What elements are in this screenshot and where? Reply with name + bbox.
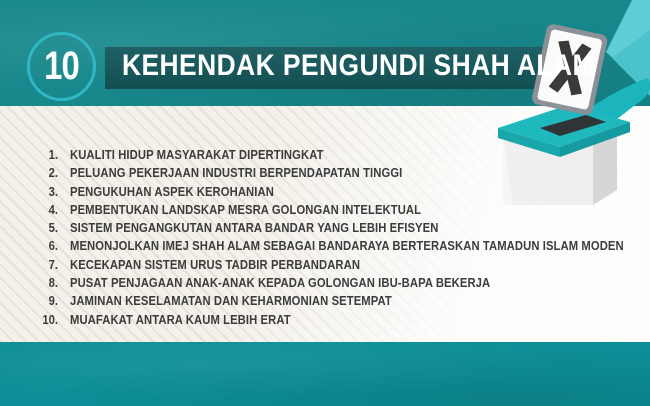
list-item: 7. KECEKAPAN SISTEM URUS TADBIR PERBANDA… — [30, 258, 650, 276]
list-item-number: 5. — [33, 221, 58, 235]
list-item-number: 6. — [33, 239, 58, 253]
list-item: 9. JAMINAN KESELAMATAN DAN KEHARMONIAN S… — [30, 294, 650, 312]
list-item-label: KECEKAPAN SISTEM URUS TADBIR PERBANDARAN — [70, 258, 360, 272]
list-item-label: PENGUKUHAN ASPEK KEROHANIAN — [70, 185, 274, 199]
list-item-label: KUALITI HIDUP MASYARAKAT DIPERTINGKAT — [70, 148, 324, 162]
number-badge-label: 10 — [36, 35, 88, 98]
list-item-label: PELUANG PEKERJAAN INDUSTRI BERPENDAPATAN… — [70, 166, 402, 180]
list-item-label: MUAFAKAT ANTARA KAUM LEBIH ERAT — [70, 313, 291, 327]
ballot-box-illustration — [480, 0, 650, 215]
list-item-label: MENONJOLKAN IMEJ SHAH ALAM SEBAGAI BANDA… — [70, 239, 624, 253]
list-item: 6. MENONJOLKAN IMEJ SHAH ALAM SEBAGAI BA… — [30, 239, 650, 257]
list-item-number: 10. — [33, 313, 58, 327]
list-item-number: 1. — [33, 148, 58, 162]
list-item-label: SISTEM PENGANGKUTAN ANTARA BANDAR YANG L… — [70, 221, 438, 235]
infographic-poster: 10 KEHENDAK PENGUNDI SHAH ALAM — [0, 0, 650, 406]
page-title: KEHENDAK PENGUNDI SHAH ALAM — [122, 44, 595, 88]
list-item-label: PEMBENTUKAN LANDSKAP MESRA GOLONGAN INTE… — [70, 203, 421, 217]
list-item: 8. PUSAT PENJAGAAN ANAK-ANAK KEPADA GOLO… — [30, 276, 650, 294]
list-item-number: 3. — [33, 185, 58, 199]
list-item-number: 8. — [33, 276, 58, 290]
footer-band — [0, 342, 650, 406]
list-item-label: JAMINAN KESELAMATAN DAN KEHARMONIAN SETE… — [70, 294, 392, 308]
list-item-number: 7. — [33, 258, 58, 272]
list-item-number: 4. — [33, 203, 58, 217]
list-item: 10. MUAFAKAT ANTARA KAUM LEBIH ERAT — [30, 313, 650, 331]
number-badge: 10 — [27, 32, 96, 101]
list-item-number: 9. — [33, 294, 58, 308]
list-item: 5. SISTEM PENGANGKUTAN ANTARA BANDAR YAN… — [30, 221, 650, 239]
list-item-number: 2. — [33, 166, 58, 180]
list-item-label: PUSAT PENJAGAAN ANAK-ANAK KEPADA GOLONGA… — [70, 276, 490, 290]
